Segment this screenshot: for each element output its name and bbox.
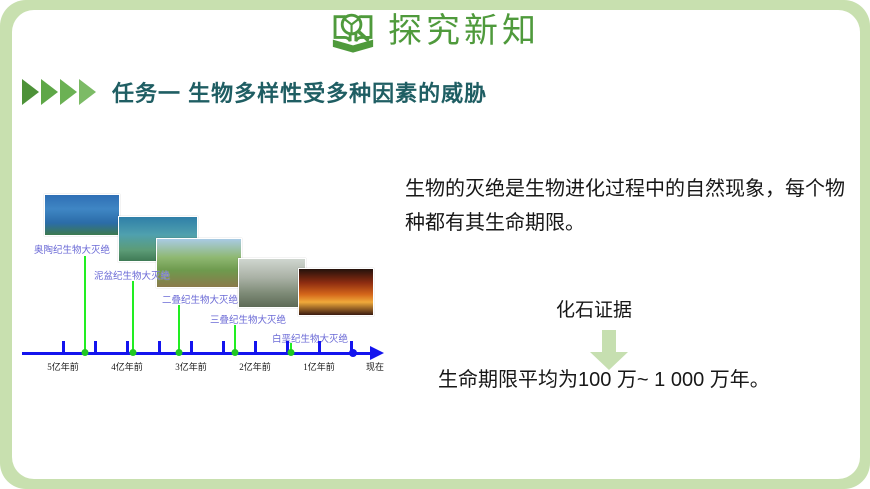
timeline-event-label: 奥陶纪生物大灭绝 [34, 242, 110, 256]
timeline-tick [62, 341, 65, 353]
timeline-event-dot [232, 349, 239, 356]
timeline-event-line [84, 256, 86, 352]
timeline-event-line [234, 325, 236, 352]
timeline-axis-label: 现在 [366, 360, 384, 373]
timeline-tick [222, 341, 225, 353]
book-magnifier-icon [330, 8, 376, 54]
timeline-tick [94, 341, 97, 353]
timeline-tick [318, 341, 321, 353]
chevrons-right-icon [22, 79, 98, 105]
triassic-reptile-scene [238, 258, 306, 308]
timeline-event-label: 白垩纪生物大灭绝 [272, 331, 348, 345]
timeline-axis-label: 5亿年前 [47, 360, 79, 373]
timeline-event-dot [176, 349, 183, 356]
slide-root: 探究新知 任务一 生物多样性受多种因素的威胁 奥陶纪生物大灭绝泥盆纪生物大灭绝二… [0, 0, 870, 489]
slide-header: 探究新知 [0, 8, 870, 54]
page-title: 探究新知 [388, 14, 540, 48]
timeline-event-dot [288, 349, 295, 356]
cretaceous-impact-scene [298, 268, 374, 316]
extinction-timeline: 奥陶纪生物大灭绝泥盆纪生物大灭绝二叠纪生物大灭绝三叠纪生物大灭绝白垩纪生物大灭绝… [14, 180, 404, 380]
timeline-event-label: 泥盆纪生物大灭绝 [94, 268, 170, 282]
thumbnail-art [45, 195, 119, 235]
timeline-axis-label: 3亿年前 [175, 360, 207, 373]
timeline-event-dot [130, 349, 137, 356]
thumbnail-art [299, 269, 373, 315]
timeline-present-marker [349, 349, 357, 357]
timeline-axis-arrow-icon [370, 346, 384, 360]
timeline-event-dot [82, 349, 89, 356]
timeline-event-line [132, 281, 134, 352]
fossil-evidence-label: 化石证据 [556, 295, 632, 322]
thumbnail-art [239, 259, 305, 307]
task-title: 任务一 生物多样性受多种因素的威胁 [112, 76, 487, 108]
timeline-axis-label: 1亿年前 [303, 360, 335, 373]
timeline-event-label: 二叠纪生物大灭绝 [162, 292, 238, 306]
timeline-tick [190, 341, 193, 353]
ordovician-sea-scene [44, 194, 120, 236]
timeline-tick [254, 341, 257, 353]
timeline-event-label: 三叠纪生物大灭绝 [210, 312, 286, 326]
timeline-event-line [178, 305, 180, 352]
timeline-axis-label: 2亿年前 [239, 360, 271, 373]
timeline-axis-label: 4亿年前 [111, 360, 143, 373]
intro-paragraph: 生物的灭绝是生物进化过程中的自然现象，每个物种都有其生命期限。 [405, 172, 845, 240]
timeline-tick [158, 341, 161, 353]
conclusion-text: 生命期限平均为100 万~ 1 000 万年。 [438, 363, 770, 392]
task-header: 任务一 生物多样性受多种因素的威胁 [22, 76, 487, 108]
